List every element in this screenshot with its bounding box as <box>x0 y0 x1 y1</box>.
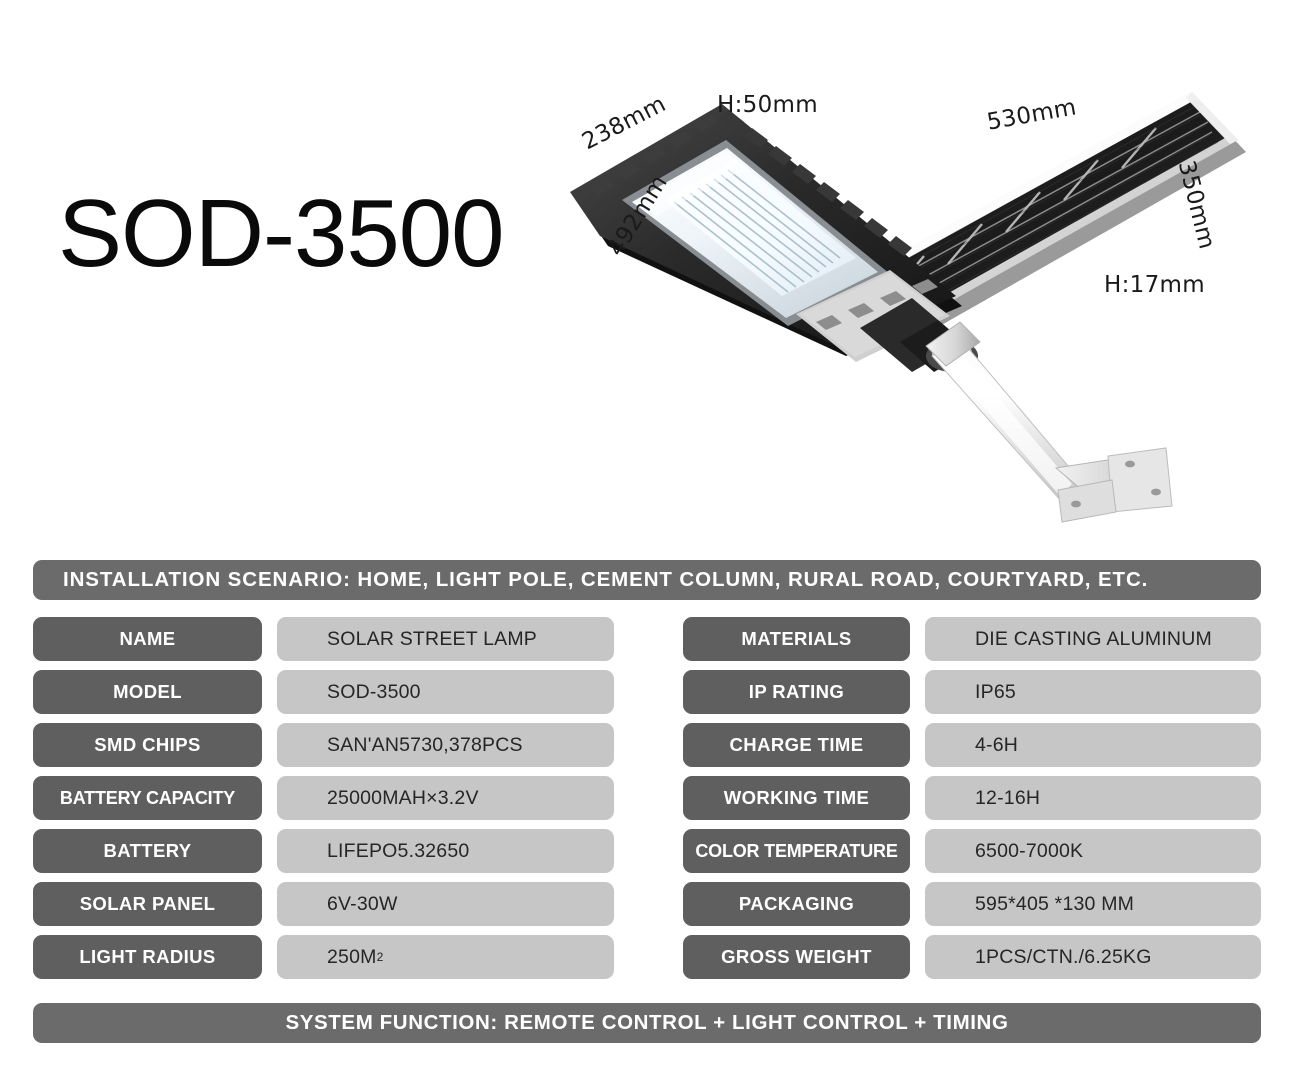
spec-value-color-temperature: 6500-7000K <box>925 829 1261 873</box>
dimension-label-panel-height: H:17mm <box>1104 272 1205 298</box>
spec-column-left: NAMESOLAR STREET LAMPMODELSOD-3500SMD CH… <box>33 617 614 988</box>
system-function-banner: SYSTEM FUNCTION: REMOTE CONTROL + LIGHT … <box>33 1003 1261 1043</box>
product-illustration <box>560 60 1294 540</box>
spec-row-gross-weight: GROSS WEIGHT1PCS/CTN./6.25KG <box>683 935 1261 979</box>
spec-value-battery-capacity: 25000MAH×3.2V <box>277 776 614 820</box>
product-hero: SOD-3500 <box>0 0 1294 545</box>
spec-label-working-time: WORKING TIME <box>683 776 910 820</box>
spec-label-charge-time: CHARGE TIME <box>683 723 910 767</box>
spec-row-name: NAMESOLAR STREET LAMP <box>33 617 614 661</box>
spec-value-charge-time: 4-6H <box>925 723 1261 767</box>
installation-scenario-banner: INSTALLATION SCENARIO: HOME, LIGHT POLE,… <box>33 560 1261 600</box>
spec-value-gross-weight: 1PCS/CTN./6.25KG <box>925 935 1261 979</box>
spec-label-gross-weight: GROSS WEIGHT <box>683 935 910 979</box>
spec-label-ip-rating: IP RATING <box>683 670 910 714</box>
spec-row-materials: MATERIALSDIE CASTING ALUMINUM <box>683 617 1261 661</box>
spec-row-packaging: PACKAGING595*405 *130 MM <box>683 882 1261 926</box>
spec-value-smd-chips: SAN'AN5730,378PCS <box>277 723 614 767</box>
spec-label-smd-chips: SMD CHIPS <box>33 723 262 767</box>
spec-row-color-temperature: COLOR TEMPERATURE6500-7000K <box>683 829 1261 873</box>
spec-label-model: MODEL <box>33 670 262 714</box>
spec-row-ip-rating: IP RATINGIP65 <box>683 670 1261 714</box>
page-title: SOD-3500 <box>58 186 504 282</box>
spec-label-color-temperature: COLOR TEMPERATURE <box>683 829 910 873</box>
spec-value-packaging: 595*405 *130 MM <box>925 882 1261 926</box>
spec-value-solar-panel: 6V-30W <box>277 882 614 926</box>
spec-label-packaging: PACKAGING <box>683 882 910 926</box>
spec-label-battery-capacity: BATTERY CAPACITY <box>33 776 262 820</box>
spec-label-name: NAME <box>33 617 262 661</box>
spec-row-solar-panel: SOLAR PANEL6V-30W <box>33 882 614 926</box>
spec-value-materials: DIE CASTING ALUMINUM <box>925 617 1261 661</box>
spec-value-model: SOD-3500 <box>277 670 614 714</box>
spec-row-working-time: WORKING TIME12-16H <box>683 776 1261 820</box>
spec-value-working-time: 12-16H <box>925 776 1261 820</box>
mounting-arm-illustration <box>926 322 1080 502</box>
spec-value-light-radius: 250M2 <box>277 935 614 979</box>
spec-value-name: SOLAR STREET LAMP <box>277 617 614 661</box>
spec-label-battery: BATTERY <box>33 829 262 873</box>
spec-value-ip-rating: IP65 <box>925 670 1261 714</box>
spec-row-model: MODELSOD-3500 <box>33 670 614 714</box>
spec-value-battery: LIFEPO5.32650 <box>277 829 614 873</box>
spec-label-solar-panel: SOLAR PANEL <box>33 882 262 926</box>
spec-column-right: MATERIALSDIE CASTING ALUMINUMIP RATINGIP… <box>683 617 1261 988</box>
spec-label-light-radius: LIGHT RADIUS <box>33 935 262 979</box>
spec-label-materials: MATERIALS <box>683 617 910 661</box>
dimension-label-lamp-height: H:50mm <box>717 92 818 118</box>
spec-row-battery: BATTERYLIFEPO5.32650 <box>33 829 614 873</box>
specification-sheet: INSTALLATION SCENARIO: HOME, LIGHT POLE,… <box>0 545 1294 1080</box>
spec-row-charge-time: CHARGE TIME4-6H <box>683 723 1261 767</box>
spec-row-smd-chips: SMD CHIPSSAN'AN5730,378PCS <box>33 723 614 767</box>
spec-row-light-radius: LIGHT RADIUS250M2 <box>33 935 614 979</box>
spec-row-battery-capacity: BATTERY CAPACITY25000MAH×3.2V <box>33 776 614 820</box>
